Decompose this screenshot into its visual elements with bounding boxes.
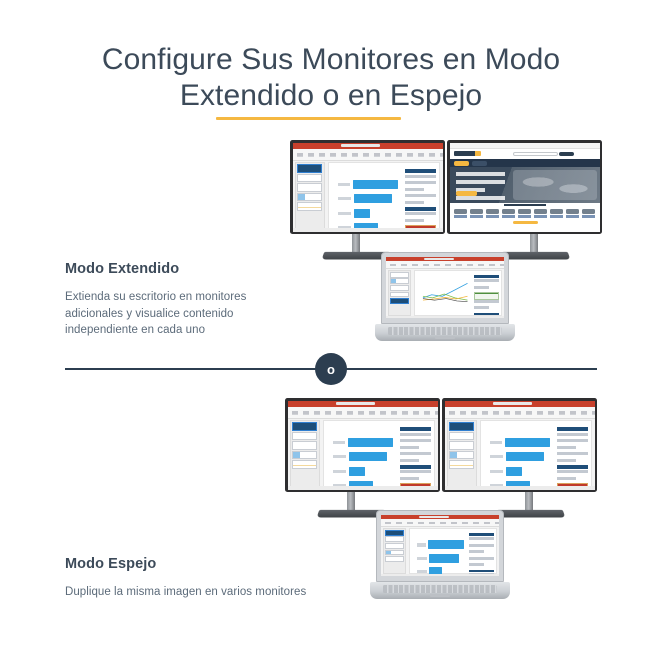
app-ribbon bbox=[381, 519, 499, 527]
slide-thumbnail-panel bbox=[295, 162, 325, 229]
slide-thumbnail bbox=[297, 183, 322, 191]
laptop-trackpad bbox=[435, 336, 455, 339]
nav-primary-button bbox=[454, 161, 469, 166]
infographic-page: Configure Sus Monitores en Modo Extendid… bbox=[0, 0, 662, 662]
slide-side-panel bbox=[469, 533, 493, 571]
slide-thumbnail bbox=[449, 422, 474, 430]
title-line-2: Extendido o en Espejo bbox=[180, 79, 482, 112]
slide-thumbnail-panel bbox=[383, 528, 407, 574]
category-item bbox=[518, 209, 531, 219]
category-item bbox=[502, 209, 515, 219]
slide-thumbnail bbox=[385, 530, 404, 536]
slide-canvas bbox=[409, 528, 498, 574]
chart-presentation-screen bbox=[386, 257, 504, 319]
app-titlebar bbox=[445, 401, 595, 408]
website-navbar bbox=[450, 159, 600, 167]
presentation-app-screen bbox=[381, 515, 499, 577]
laptop-screen bbox=[386, 257, 504, 319]
slide-side-panel bbox=[405, 169, 436, 224]
monitor-right-screen bbox=[445, 401, 595, 490]
laptop-trackpad bbox=[430, 594, 450, 597]
app-ribbon bbox=[293, 149, 443, 161]
slide-thumbnail bbox=[292, 432, 317, 440]
laptop-keyboard bbox=[388, 327, 503, 335]
category-item bbox=[550, 209, 563, 219]
website-header bbox=[450, 149, 600, 160]
slide-thumbnail bbox=[385, 543, 404, 549]
bar-chart bbox=[417, 540, 465, 576]
category-item bbox=[470, 209, 483, 219]
slide-thumbnail bbox=[390, 278, 409, 284]
slide-thumbnail bbox=[297, 193, 322, 201]
laptop-lid bbox=[376, 510, 504, 582]
slide-thumbnail-panel bbox=[388, 270, 412, 316]
monitor-left-screen bbox=[293, 143, 443, 232]
slide-thumbnail bbox=[390, 298, 409, 304]
monitor-stand-neck-right bbox=[525, 492, 533, 511]
slide-thumbnail bbox=[449, 451, 474, 459]
title-line-1: Configure Sus Monitores en Modo bbox=[0, 42, 662, 78]
slide-thumbnail bbox=[385, 556, 404, 562]
slide-thumbnail bbox=[390, 292, 409, 298]
title-line-2-wrap: Extendido o en Espejo bbox=[180, 78, 482, 114]
line-chart bbox=[421, 281, 469, 304]
title-accent-underline bbox=[216, 117, 401, 120]
page-title: Configure Sus Monitores en Modo Extendid… bbox=[0, 42, 662, 114]
app-statusbar bbox=[445, 486, 595, 490]
slide-thumbnail bbox=[292, 460, 317, 468]
slide-thumbnail bbox=[390, 272, 409, 278]
line-chart-svg bbox=[421, 281, 469, 304]
category-item bbox=[454, 209, 467, 219]
slide-side-panel bbox=[474, 275, 498, 313]
slide-side-panel bbox=[400, 427, 431, 482]
slide-thumbnail bbox=[385, 550, 404, 556]
monitor-stand-neck-right bbox=[530, 234, 538, 253]
slide-thumbnail bbox=[292, 451, 317, 459]
app-titlebar bbox=[288, 401, 438, 408]
monitor-left-mirror bbox=[285, 398, 440, 492]
slide-thumbnail bbox=[292, 441, 317, 449]
category-item bbox=[486, 209, 499, 219]
monitor-left-extended bbox=[290, 140, 445, 234]
monitor-left-screen bbox=[288, 401, 438, 490]
category-row bbox=[454, 209, 595, 219]
slide-thumbnail bbox=[449, 432, 474, 440]
app-statusbar bbox=[288, 486, 438, 490]
bar-chart bbox=[338, 180, 399, 232]
laptop-screen bbox=[381, 515, 499, 577]
category-item bbox=[534, 209, 547, 219]
app-ribbon bbox=[445, 407, 595, 419]
popular-categories-section bbox=[450, 203, 600, 224]
laptop-keyboard bbox=[383, 585, 498, 593]
laptop-extended bbox=[375, 252, 515, 342]
laptop-base bbox=[375, 324, 515, 341]
app-ribbon bbox=[288, 407, 438, 419]
monitor-stand-neck-left bbox=[352, 234, 360, 253]
brand-logo bbox=[454, 151, 481, 156]
presentation-app-screen bbox=[288, 401, 438, 490]
bar-chart bbox=[333, 438, 394, 490]
category-item bbox=[582, 209, 595, 219]
slide-thumbnail bbox=[297, 164, 322, 172]
laptop-lid bbox=[381, 252, 509, 324]
mirror-mode-heading: Modo Espejo bbox=[65, 556, 156, 572]
slide-thumbnail bbox=[449, 441, 474, 449]
slide-canvas bbox=[323, 420, 436, 487]
startech-website-screen bbox=[450, 143, 600, 232]
app-statusbar bbox=[386, 316, 504, 318]
extended-mode-description: Extienda su escritorio en monitores adic… bbox=[65, 289, 305, 339]
mirror-mode-description: Duplique la misma imagen en varios monit… bbox=[65, 584, 365, 601]
nav-secondary-button bbox=[472, 161, 487, 166]
app-statusbar bbox=[293, 228, 443, 232]
laptop-base bbox=[370, 582, 510, 599]
slide-thumbnail-panel bbox=[447, 420, 477, 487]
slide-thumbnail bbox=[449, 460, 474, 468]
monitor-right-screen bbox=[450, 143, 600, 232]
slide-canvas bbox=[328, 162, 441, 229]
browse-categories-button bbox=[513, 221, 539, 224]
slide-canvas bbox=[414, 270, 503, 316]
slide-thumbnail bbox=[292, 422, 317, 430]
slide-thumbnail bbox=[297, 174, 322, 182]
monitor-right-extended bbox=[447, 140, 602, 234]
divider-or-badge: o bbox=[315, 353, 347, 385]
slide-canvas bbox=[480, 420, 593, 487]
slide-side-panel bbox=[557, 427, 588, 482]
site-search-input bbox=[513, 152, 558, 156]
search-icon bbox=[559, 152, 574, 156]
bar-chart bbox=[490, 438, 551, 490]
presentation-app-screen bbox=[445, 401, 595, 490]
hero-cta-button bbox=[456, 191, 477, 196]
category-item bbox=[566, 209, 579, 219]
laptop-mirror bbox=[370, 510, 510, 600]
website-hero-banner bbox=[450, 167, 600, 203]
slide-thumbnail bbox=[297, 202, 322, 210]
categories-title bbox=[504, 204, 546, 205]
slide-thumbnail bbox=[390, 285, 409, 291]
mirror-mode-illustration bbox=[285, 398, 615, 603]
extended-mode-illustration bbox=[290, 140, 620, 345]
app-ribbon bbox=[386, 261, 504, 269]
slide-thumbnail bbox=[385, 536, 404, 542]
extended-mode-heading: Modo Extendido bbox=[65, 261, 179, 277]
app-titlebar bbox=[293, 143, 443, 150]
presentation-app-screen bbox=[293, 143, 443, 232]
monitor-stand-neck-left bbox=[347, 492, 355, 511]
monitor-right-mirror bbox=[442, 398, 597, 492]
slide-thumbnail-panel bbox=[290, 420, 320, 487]
app-statusbar bbox=[381, 574, 499, 576]
